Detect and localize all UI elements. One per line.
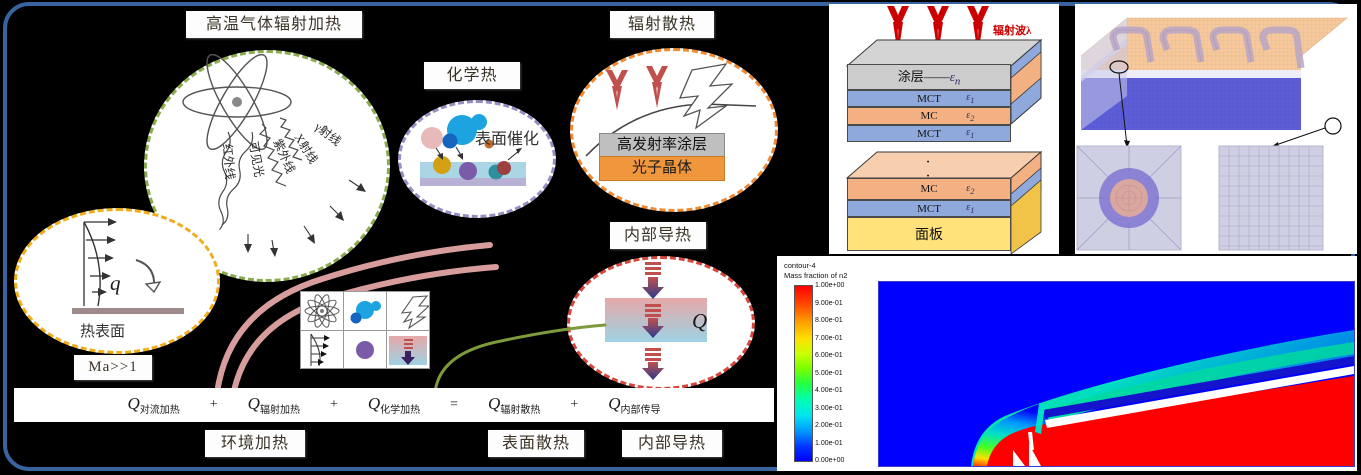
- contour-title-line1: contour-4: [784, 261, 847, 271]
- stack-layer-mc-2-name: MC: [848, 183, 1010, 195]
- energy-balance-equation: Q对流加热 + Q辐射加热 + Q化学加热 = Q辐射散热 + Q内部传导: [14, 388, 774, 422]
- stack-layer-mct-1: MCT ε1: [847, 90, 1011, 107]
- contour-colorbar: [794, 285, 813, 462]
- caption-chemical-heat: 化学热: [424, 62, 520, 89]
- eq-op-plus-2: +: [330, 397, 338, 413]
- incident-radiation-label: 辐射波λ: [993, 22, 1031, 38]
- caption-gas-radiation-heating: 高温气体辐射加热: [186, 11, 362, 38]
- grid-cell-boundary-layer-icon: [301, 331, 343, 369]
- bottom-label-internal-conduction: 内部导热: [622, 430, 722, 457]
- stack-layer-mct-2-eps: ε1: [966, 127, 974, 140]
- svg-text:Q: Q: [692, 309, 707, 333]
- bottom-label-environment-heating: 环境加热: [205, 430, 305, 457]
- stack-layer-panel-label: 面板: [848, 224, 1010, 244]
- cb-tick-9: 1.00e-01: [815, 440, 843, 447]
- stack-layer-coating-label: 涂层——εn: [848, 66, 1010, 88]
- cb-tick-5: 5.00e-01: [815, 370, 843, 377]
- stack-layer-mct-1-eps: ε1: [966, 92, 974, 105]
- stack-layer-mc-2-eps: ε2: [966, 183, 974, 196]
- stack-layer-panel: 面板: [847, 217, 1011, 251]
- cb-tick-6: 4.00e-01: [815, 387, 843, 394]
- chemistry-oval-label: 表面催化: [475, 125, 539, 149]
- dissipation-coating-label: 高发射率涂层: [599, 133, 725, 158]
- cb-tick-0: 1.00e+00: [815, 282, 844, 289]
- dissipation-oval-graphic: [570, 48, 772, 206]
- caption-radiative-dissipation: 辐射散热: [610, 11, 714, 38]
- chemistry-oval-graphic: [398, 100, 550, 212]
- stack-layer-mct-3-name: MCT: [848, 203, 1010, 215]
- cb-tick-4: 6.00e-01: [815, 352, 843, 359]
- eq-term-radiative-heating: Q辐射加热: [248, 394, 300, 416]
- stack-layer-mct-2: MCT ε1: [847, 125, 1011, 142]
- eq-op-equals: =: [450, 397, 458, 413]
- icon-grid: [300, 291, 430, 369]
- stack-layer-mc-1: MC ε2: [847, 107, 1011, 125]
- contour-field: [878, 281, 1355, 467]
- contour-panel: contour-4 Mass fraction of n2 1.00e+00 9…: [777, 256, 1357, 471]
- contour-title: contour-4 Mass fraction of n2: [784, 261, 847, 281]
- convection-surface-label: 热表面: [80, 320, 125, 341]
- stack-layer-mct-1-name: MCT: [848, 93, 1010, 105]
- contour-colorbar-ticks: 1.00e+00 9.00e-01 8.00e-01 7.00e-01 6.00…: [815, 282, 875, 464]
- layered-stack-panel: 辐射波λ 涂层——εn MCT ε1 MC ε2 MCT ε1: [829, 4, 1059, 254]
- cb-tick-7: 3.00e-01: [815, 405, 843, 412]
- eq-op-plus-3: +: [570, 397, 578, 413]
- cb-tick-1: 9.00e-01: [815, 300, 843, 307]
- cb-tick-3: 7.00e-01: [815, 335, 843, 342]
- eq-term-internal-conduction: Q内部传导: [608, 394, 660, 416]
- grid-cell-lightning-icon: [387, 292, 429, 330]
- figure-root: 高温气体辐射加热 γ射线 X射线 紫外线 可见光 红外: [0, 0, 1361, 475]
- eq-term-radiative-dissipation: Q辐射散热: [488, 394, 540, 416]
- grid-cell-conduction-icon: [387, 331, 429, 369]
- stack-layer-mct-2-name: MCT: [848, 128, 1010, 140]
- contour-title-line2: Mass fraction of n2: [784, 271, 847, 281]
- stack-layer-mc-1-name: MC: [848, 110, 1010, 122]
- svg-text:q: q: [110, 271, 121, 295]
- eq-term-convective-heating: Q对流加热: [127, 394, 179, 416]
- caption-internal-conduction: 内部导热: [610, 222, 706, 249]
- mesh-model-graphic: [1075, 4, 1357, 254]
- stack-layer-coating: 涂层——εn: [847, 64, 1011, 90]
- grid-cell-molecule-icon: [344, 292, 386, 330]
- eq-term-chemical-heating: Q化学加热: [368, 394, 420, 416]
- stack-layer-mc-1-eps: ε2: [966, 110, 974, 123]
- grid-cell-particle-icon: [344, 331, 386, 369]
- cb-tick-8: 2.00e-01: [815, 422, 843, 429]
- stack-layer-mc-2: MC ε2: [847, 178, 1011, 200]
- stack-layer-mct-3-eps: ε1: [966, 202, 974, 215]
- ray-label-infrared: 红外线: [219, 143, 239, 180]
- eq-op-plus-1: +: [210, 397, 218, 413]
- cb-tick-2: 8.00e-01: [815, 317, 843, 324]
- dissipation-crystal-label: 光子晶体: [599, 156, 725, 181]
- bottom-label-surface-dissipation: 表面散热: [488, 430, 584, 457]
- cb-tick-10: 0.00e+00: [815, 457, 844, 464]
- grid-cell-atom-icon: [301, 292, 343, 330]
- caption-mach-number: Ma>>1: [74, 355, 152, 380]
- mesh-model-panel: [1075, 4, 1357, 254]
- stack-layer-mct-3: MCT ε1: [847, 200, 1011, 217]
